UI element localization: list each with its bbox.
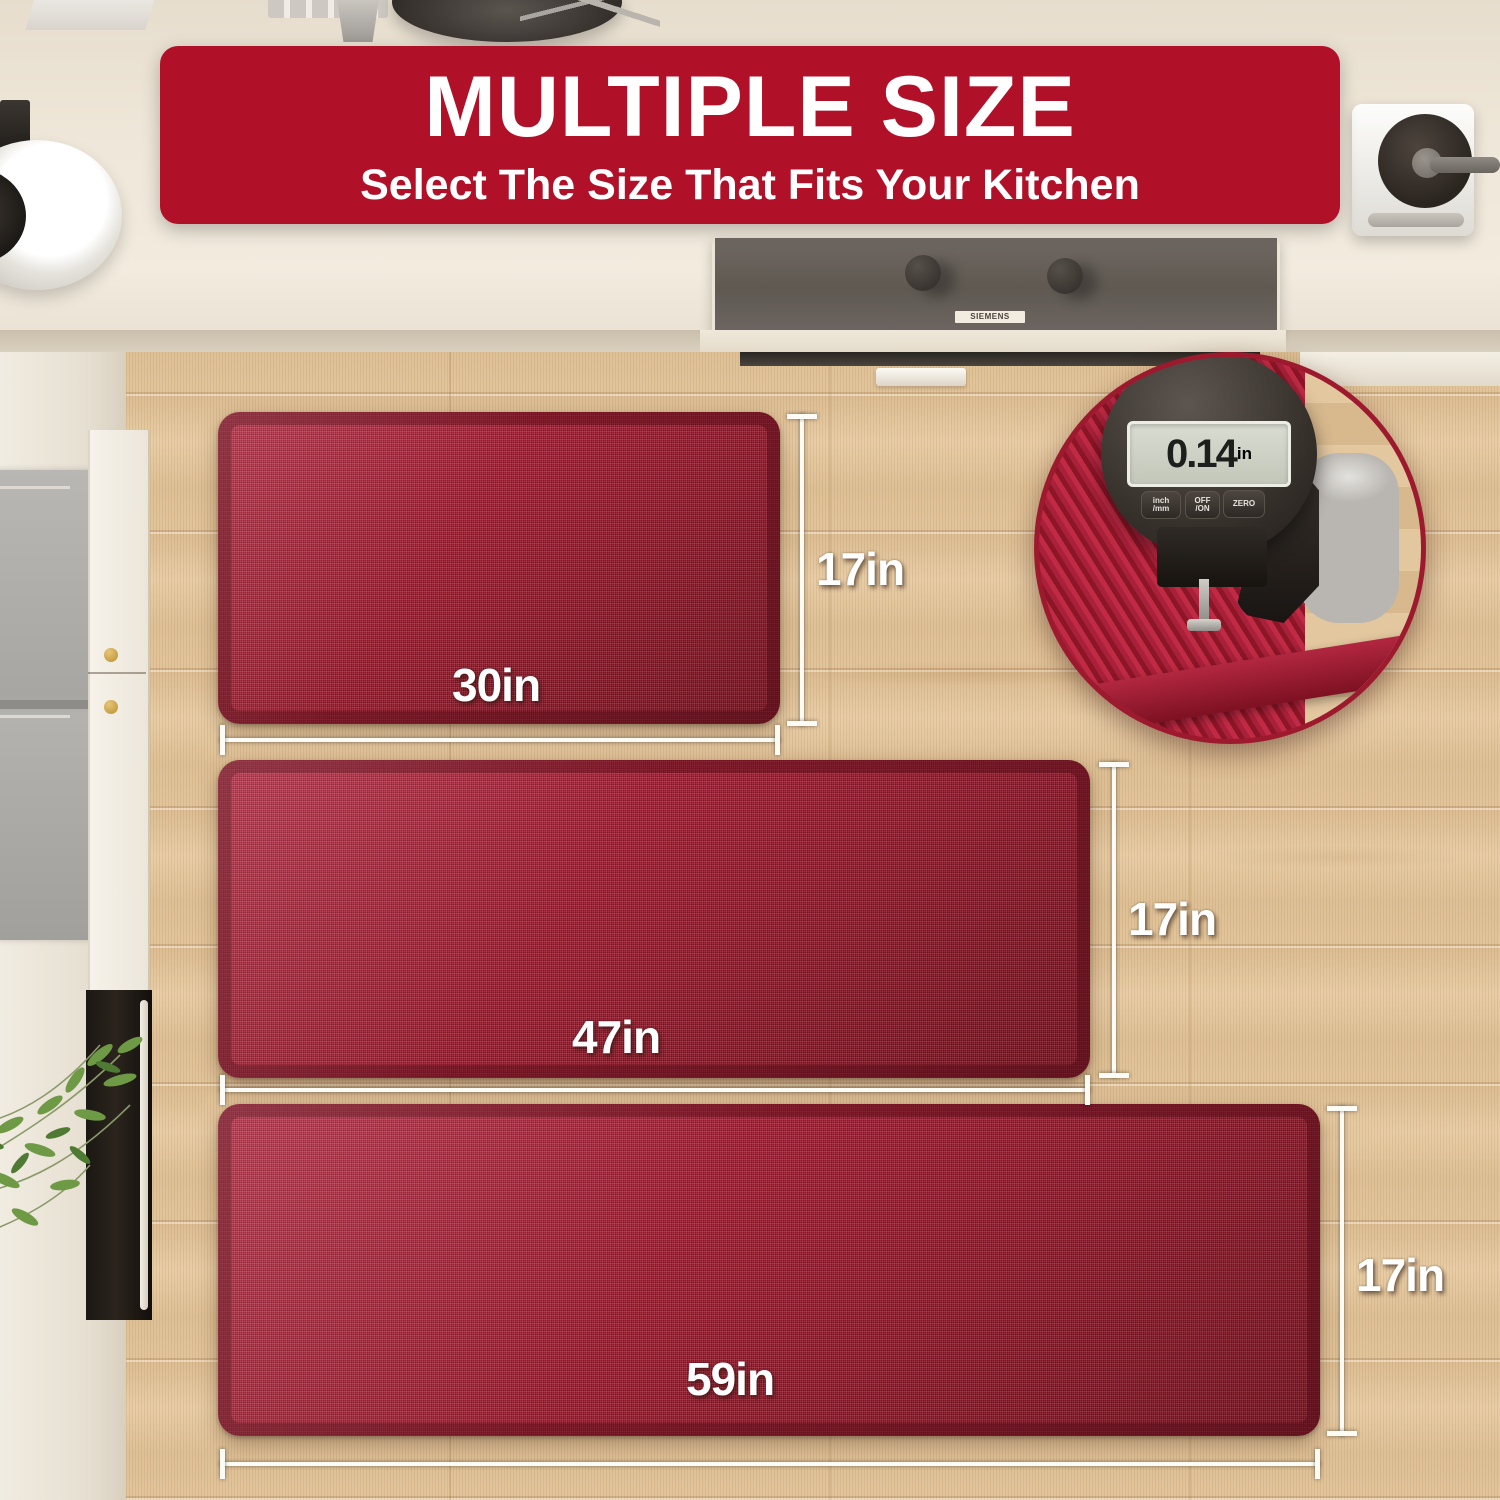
cabinet-knob-lower bbox=[104, 700, 118, 714]
kettle-spout bbox=[1430, 157, 1500, 173]
dimension-label-height-mat30: 17in bbox=[816, 542, 904, 596]
product-infographic: SIEMENS bbox=[0, 0, 1500, 1500]
dimension-label-width-mat30: 30in bbox=[452, 658, 540, 712]
utensils-icon bbox=[520, 0, 660, 30]
gauge-value: 0.14 bbox=[1166, 434, 1236, 474]
cabinet-knob-upper bbox=[104, 648, 118, 662]
dimension-label-height-mat47: 17in bbox=[1128, 892, 1216, 946]
plant-foliage bbox=[0, 985, 170, 1285]
gauge-button-power[interactable]: OFF /ON bbox=[1185, 491, 1220, 519]
cooktop-knob-left bbox=[905, 255, 941, 291]
dimension-label-width-mat59: 59in bbox=[686, 1352, 774, 1406]
gauge-display: 0.14in bbox=[1127, 421, 1291, 487]
dimension-line-width-mat30 bbox=[220, 738, 780, 742]
dimension-line-width-mat59 bbox=[220, 1462, 1320, 1466]
cooktop-brand-label: SIEMENS bbox=[955, 311, 1025, 323]
banner-subhead: Select The Size That Fits Your Kitchen bbox=[360, 164, 1140, 207]
gauge-button-zero[interactable]: ZERO bbox=[1223, 490, 1265, 518]
gauge-anvil bbox=[1187, 619, 1221, 631]
kettle-base bbox=[1368, 213, 1464, 227]
gauge-unit: in bbox=[1237, 444, 1252, 464]
banner-headline: MULTIPLE SIZE bbox=[424, 64, 1076, 150]
dimension-line-height-mat47 bbox=[1112, 762, 1116, 1078]
dimension-line-width-mat47 bbox=[220, 1088, 1090, 1092]
gauge-probe bbox=[1199, 579, 1209, 623]
cabinet-seam bbox=[88, 672, 146, 674]
dimension-label-height-mat59: 17in bbox=[1356, 1248, 1444, 1302]
gauge-button-zero-label: ZERO bbox=[1233, 500, 1255, 508]
banner: MULTIPLE SIZE Select The Size That Fits … bbox=[160, 46, 1340, 224]
cabinet-doors bbox=[88, 430, 150, 990]
vent-grille bbox=[876, 368, 966, 386]
dimension-line-height-mat30 bbox=[800, 414, 804, 726]
dimension-line-height-mat59 bbox=[1340, 1106, 1344, 1436]
gauge-body bbox=[1157, 527, 1267, 587]
drawer-divider bbox=[0, 700, 90, 709]
thickness-callout-circle: 0.14in inch /mm OFF /ON ZERO bbox=[1034, 352, 1426, 744]
gauge-button-inch-mm[interactable]: inch /mm bbox=[1141, 491, 1181, 519]
cooktop-knob-right bbox=[1047, 258, 1083, 294]
gauge-button-inch-mm-line2: /mm bbox=[1153, 505, 1169, 513]
ceiling-light bbox=[25, 0, 162, 30]
gauge-button-power-line2: /ON bbox=[1195, 505, 1209, 513]
dimension-label-width-mat47: 47in bbox=[572, 1010, 660, 1064]
